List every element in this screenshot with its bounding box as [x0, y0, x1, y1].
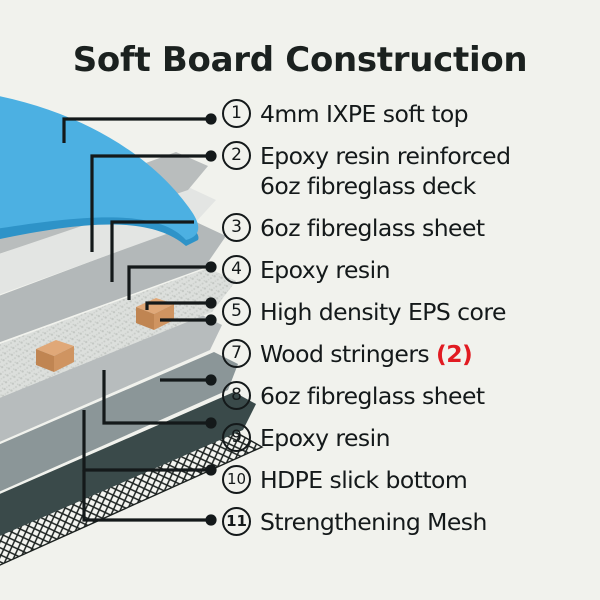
legend-label-7-line1: Wood stringers	[260, 340, 429, 368]
leader-dot-4	[205, 261, 216, 272]
legend-label-9-line1: Epoxy resin	[260, 424, 390, 452]
legend-item-10[interactable]: 10 HDPE slick bottom	[222, 465, 467, 495]
legend-item-7[interactable]: 7 Wood stringers (2)	[222, 339, 472, 369]
legend-label-10-line1: HDPE slick bottom	[260, 466, 467, 494]
diagram-page: Soft Board Construction	[0, 0, 600, 600]
legend-label-3: 6oz fibreglass sheet	[260, 213, 485, 243]
legend-item-8[interactable]: 8 6oz fibreglass sheet	[222, 381, 485, 411]
legend-badge-9: 9	[222, 423, 251, 452]
legend-label-11: Strengthening Mesh	[260, 507, 487, 537]
legend-label-4-line1: Epoxy resin	[260, 256, 390, 284]
leader-dot-1	[205, 113, 216, 124]
leader-dot-8	[205, 374, 216, 385]
legend-item-1[interactable]: 1 4mm IXPE soft top	[222, 99, 468, 129]
legend-badge-2: 2	[222, 141, 251, 170]
leader-dot-5	[205, 297, 216, 308]
leader-dot-11	[205, 514, 216, 525]
leader-dot-9	[205, 417, 216, 428]
legend-item-5[interactable]: 5 High density EPS core	[222, 297, 506, 327]
legend-label-11-line1: Strengthening Mesh	[260, 508, 487, 536]
legend-badge-8: 8	[222, 381, 251, 410]
legend-label-5-line1: High density EPS core	[260, 298, 506, 326]
legend-item-4[interactable]: 4 Epoxy resin	[222, 255, 390, 285]
leader-dot-7	[205, 314, 216, 325]
leader-dot-2	[205, 150, 216, 161]
leader-dot-10	[205, 464, 216, 475]
legend-label-5: High density EPS core	[260, 297, 506, 327]
legend-item-3[interactable]: 3 6oz fibreglass sheet	[222, 213, 485, 243]
legend-label-8-line1: 6oz fibreglass sheet	[260, 382, 485, 410]
legend-label-1: 4mm IXPE soft top	[260, 99, 468, 129]
legend-badge-10: 10	[222, 465, 251, 494]
legend-label-2-line2: 6oz fibreglass deck	[260, 171, 510, 201]
legend-item-11[interactable]: 11 Strengthening Mesh	[222, 507, 487, 537]
legend-label-10: HDPE slick bottom	[260, 465, 467, 495]
legend-label-7: Wood stringers (2)	[260, 339, 472, 369]
legend-badge-3: 3	[222, 213, 251, 242]
legend-badge-1: 1	[222, 99, 251, 128]
legend-item-2[interactable]: 2 Epoxy resin reinforced 6oz fibreglass …	[222, 141, 510, 201]
legend-label-9: Epoxy resin	[260, 423, 390, 453]
legend-label-2: Epoxy resin reinforced 6oz fibreglass de…	[260, 141, 510, 201]
legend-badge-11: 11	[222, 507, 251, 536]
legend-badge-4: 4	[222, 255, 251, 284]
legend-label-2-line1: Epoxy resin reinforced	[260, 142, 510, 170]
legend-badge-7: 7	[222, 339, 251, 368]
legend-label-8: 6oz fibreglass sheet	[260, 381, 485, 411]
legend-label-7-count: (2)	[436, 340, 472, 368]
legend-label-1-line1: 4mm IXPE soft top	[260, 100, 468, 128]
legend-badge-5: 5	[222, 297, 251, 326]
legend-label-3-line1: 6oz fibreglass sheet	[260, 214, 485, 242]
legend-item-9[interactable]: 9 Epoxy resin	[222, 423, 390, 453]
legend-label-4: Epoxy resin	[260, 255, 390, 285]
